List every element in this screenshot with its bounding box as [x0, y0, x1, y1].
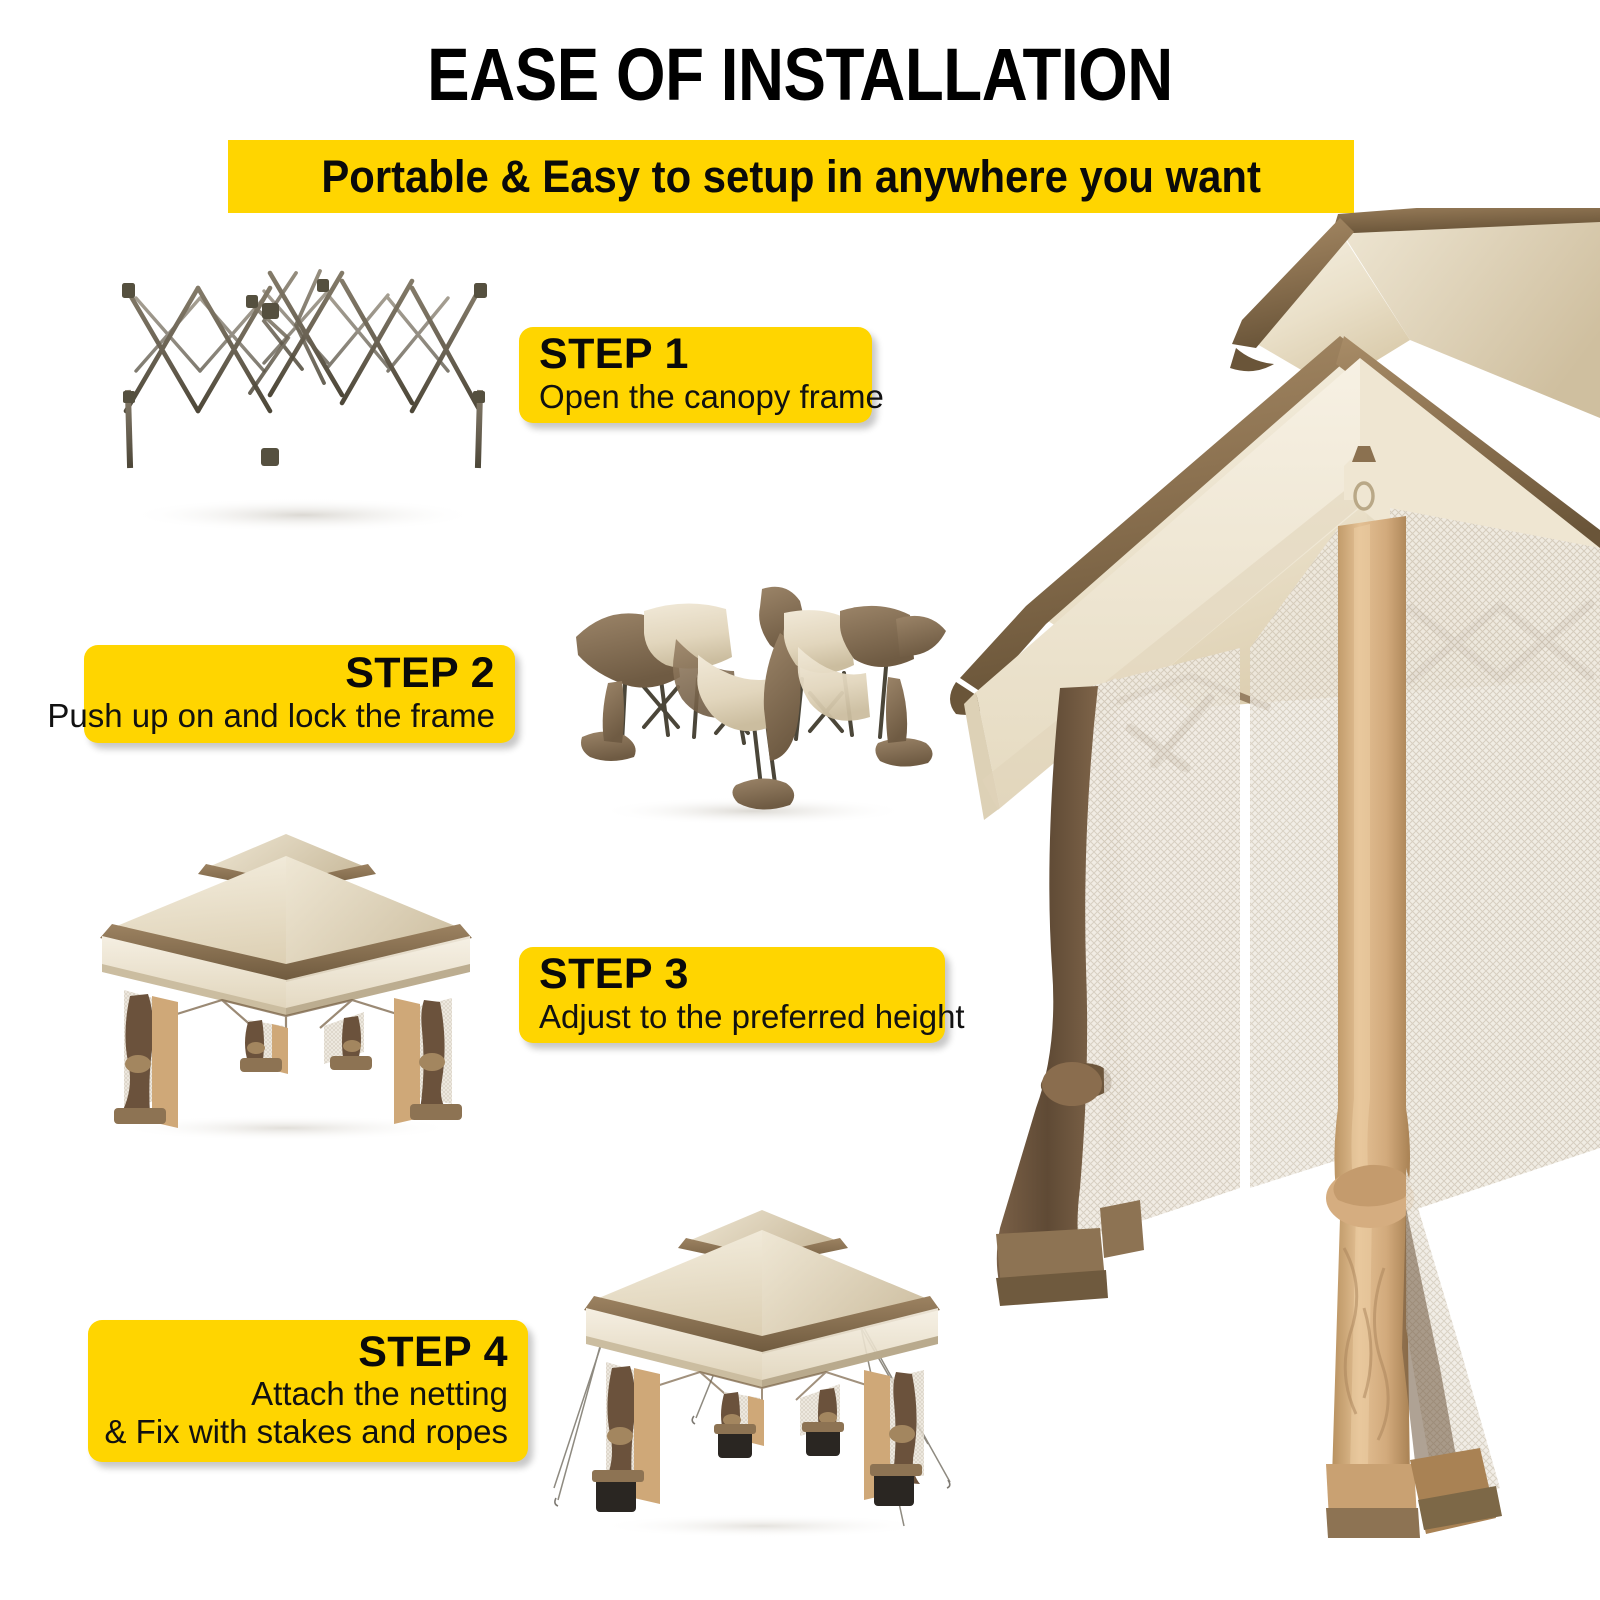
subtitle-banner: Portable & Easy to setup in anywhere you…: [228, 140, 1354, 213]
page-title: EASE OF INSTALLATION: [112, 38, 1488, 112]
assembled-gazebo-image: [72, 812, 500, 1142]
step-4-description-line-2: & Fix with stakes and ropes: [104, 1413, 508, 1451]
step-1-title: STEP 1: [539, 332, 689, 378]
step-3-description: Adjust to the preferred height: [539, 998, 965, 1036]
step-4-title: STEP 4: [358, 1330, 508, 1376]
collapsed-canopy-frame-image: [88, 243, 508, 543]
subtitle-text: Portable & Easy to setup in anywhere you…: [321, 154, 1261, 199]
step-callout-2: STEP 2 Push up on and lock the frame: [84, 645, 515, 743]
step-1-description: Open the canopy frame: [539, 378, 884, 416]
step-callout-3: STEP 3 Adjust to the preferred height: [519, 947, 945, 1043]
step-2-title: STEP 2: [345, 651, 495, 697]
gazebo-closeup-hero-image: [940, 208, 1600, 1538]
step-callout-1: STEP 1 Open the canopy frame: [519, 327, 872, 423]
step-callout-4: STEP 4 Attach the netting & Fix with sta…: [88, 1320, 528, 1462]
step-2-description: Push up on and lock the frame: [47, 697, 495, 735]
partially-raised-canopy-image: [548, 575, 958, 830]
step-4-description-line-1: Attach the netting: [251, 1375, 508, 1413]
infographic-page: EASE OF INSTALLATION Portable & Easy to …: [0, 0, 1600, 1600]
step-3-title: STEP 3: [539, 952, 689, 998]
staked-gazebo-with-ropes-image: [552, 1182, 972, 1544]
